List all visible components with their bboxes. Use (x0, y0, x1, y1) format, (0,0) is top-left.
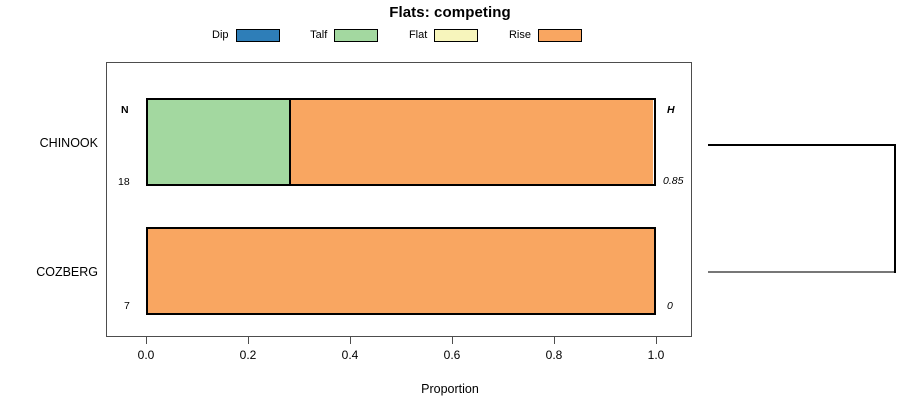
annotation-h-cozberg: 0 (667, 300, 673, 312)
xtick-mark (452, 337, 453, 344)
xtick-label-2: 0.4 (320, 348, 380, 362)
legend-label-flat: Flat (409, 30, 427, 41)
dendrogram-join (894, 144, 896, 273)
dendrogram-branch-chinook (708, 144, 896, 146)
xtick-mark (656, 337, 657, 344)
legend-label-dip: Dip (212, 30, 229, 41)
legend-entry-dip[interactable]: Dip (212, 29, 280, 42)
legend-label-rise: Rise (509, 30, 531, 41)
bar-segment-rise[interactable] (289, 100, 653, 184)
xtick-label-0: 0.0 (116, 348, 176, 362)
annotation-header-h: H (667, 104, 675, 116)
bar-segment-talf[interactable] (148, 100, 290, 184)
chart-legend: Dip Talf Flat Rise (212, 26, 582, 44)
annotation-h-chinook: 0.85 (663, 175, 683, 187)
dendrogram (708, 140, 898, 278)
xtick-label-3: 0.6 (422, 348, 482, 362)
xtick-mark (146, 337, 147, 344)
xtick-label-5: 1.0 (626, 348, 686, 362)
legend-swatch-talf (334, 29, 378, 42)
xtick-label-4: 0.8 (524, 348, 584, 362)
stacked-bar-chinook[interactable] (146, 98, 656, 186)
legend-label-talf: Talf (310, 30, 327, 41)
ytick-label-cozberg: COZBERG (8, 265, 98, 279)
xaxis-title: Proportion (0, 382, 900, 396)
ytick-label-chinook: CHINOOK (8, 136, 98, 150)
annotation-header-n: N (121, 104, 129, 116)
stacked-bar-cozberg[interactable] (146, 227, 656, 315)
legend-entry-rise[interactable]: Rise (509, 29, 582, 42)
legend-swatch-dip (236, 29, 280, 42)
xtick-label-1: 0.2 (218, 348, 278, 362)
annotation-n-cozberg: 7 (124, 300, 130, 312)
xtick-mark (554, 337, 555, 344)
xtick-mark (350, 337, 351, 344)
legend-entry-talf[interactable]: Talf (310, 29, 378, 42)
chart-canvas: Flats: competing Dip Talf Flat Rise CHIN… (0, 0, 900, 420)
legend-swatch-flat (434, 29, 478, 42)
xtick-mark (248, 337, 249, 344)
annotation-n-chinook: 18 (118, 176, 130, 188)
legend-swatch-rise (538, 29, 582, 42)
legend-entry-flat[interactable]: Flat (409, 29, 478, 42)
dendrogram-branch-cozberg (708, 271, 896, 273)
bar-segment-rise[interactable] (148, 229, 654, 313)
chart-title: Flats: competing (0, 4, 900, 21)
